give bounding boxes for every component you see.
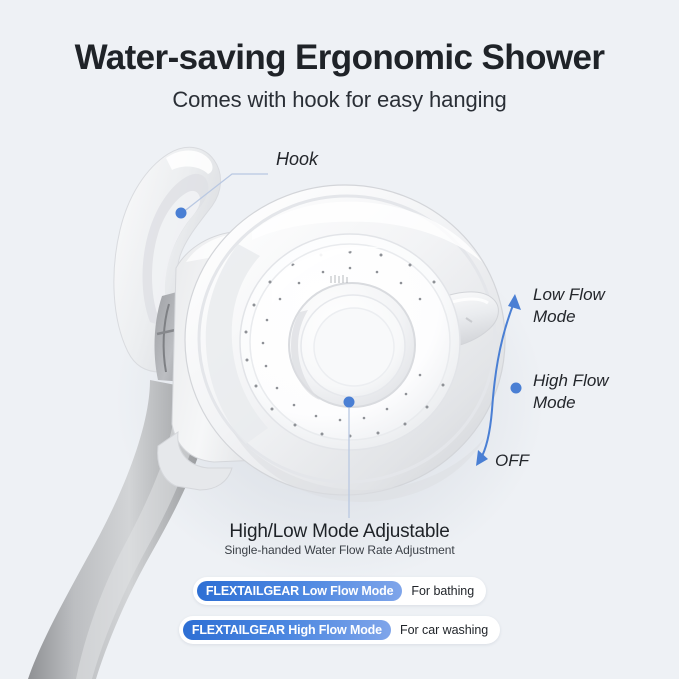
caption-subtitle: Single-handed Water Flow Rate Adjustment [0,543,679,557]
callout-high-flow-label: High Flow Mode [533,370,609,414]
hook-anchor-dot [176,208,187,219]
infographic-canvas: Water-saving Ergonomic Shower Comes with… [0,0,679,679]
badge-desc-low-flow: For bathing [411,584,474,598]
badge-high-flow: FLEXTAILGEAR High Flow Mode For car wash… [179,616,500,644]
badge-low-flow: FLEXTAILGEAR Low Flow Mode For bathing [193,577,486,605]
badge-brand-low-flow: FLEXTAILGEAR Low Flow Mode [197,581,403,601]
callout-off-label: OFF [495,450,529,472]
badge-row-high-flow: FLEXTAILGEAR High Flow Mode For car wash… [0,616,679,644]
high-flow-anchor-dot [511,383,522,394]
badge-row-low-flow: FLEXTAILGEAR Low Flow Mode For bathing [0,577,679,605]
badge-brand-high-flow: FLEXTAILGEAR High Flow Mode [183,620,391,640]
page-subtitle: Comes with hook for easy hanging [0,85,679,115]
caption-title: High/Low Mode Adjustable [0,521,679,543]
callout-hook-label: Hook [276,148,318,170]
badge-desc-high-flow: For car washing [400,623,488,637]
callout-low-flow-label: Low Flow Mode [533,284,605,328]
mode-anchor-dot [344,397,355,408]
shower-face [240,234,460,450]
page-title: Water-saving Ergonomic Shower [0,36,679,80]
